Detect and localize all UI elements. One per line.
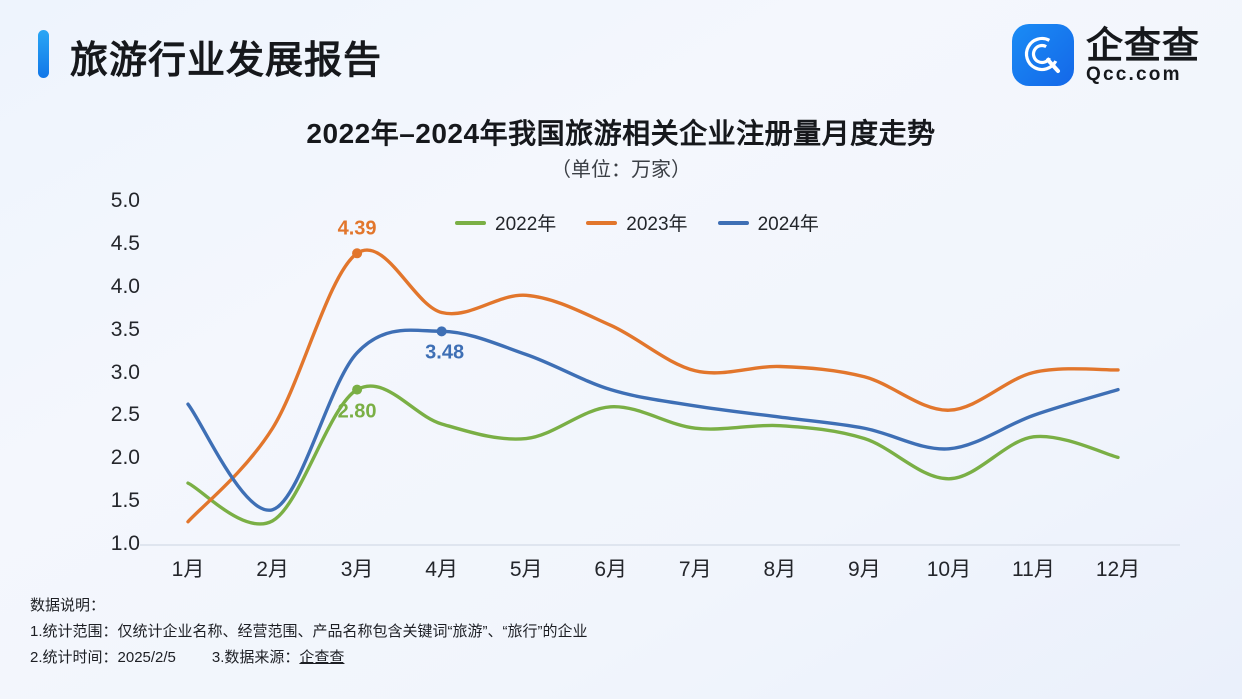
data-point-marker [437, 326, 447, 336]
series-line-2024年 [188, 330, 1118, 510]
data-point-marker [352, 385, 362, 395]
data-point-marker [352, 248, 362, 258]
series-line-2023年 [188, 250, 1118, 522]
footnote-time-source: 2.统计时间：2025/2/5 3.数据来源：企查查 [30, 650, 1130, 665]
footnotes: 数据说明： 1.统计范围：仅统计企业名称、经营范围、产品名称包含关键词“旅游”、… [30, 598, 1130, 676]
data-point-label: 3.48 [425, 342, 464, 365]
footnote-source-prefix: 3.数据来源： [212, 649, 300, 666]
footnote-scope: 1.统计范围：仅统计企业名称、经营范围、产品名称包含关键词“旅游”、“旅行”的企… [30, 624, 1130, 639]
footnote-time: 2.统计时间：2025/2/5 [30, 650, 176, 665]
data-point-label: 2.80 [338, 400, 377, 423]
chart-series-svg [0, 0, 1242, 699]
footnote-heading: 数据说明： [30, 598, 1130, 613]
data-point-label: 4.39 [338, 218, 377, 241]
chart-plot-area: 5.04.54.03.53.02.52.01.51.0 1月2月3月4月5月6月… [0, 0, 1242, 699]
footnote-source: 3.数据来源：企查查 [212, 650, 345, 665]
footnote-source-link[interactable]: 企查查 [299, 649, 344, 666]
